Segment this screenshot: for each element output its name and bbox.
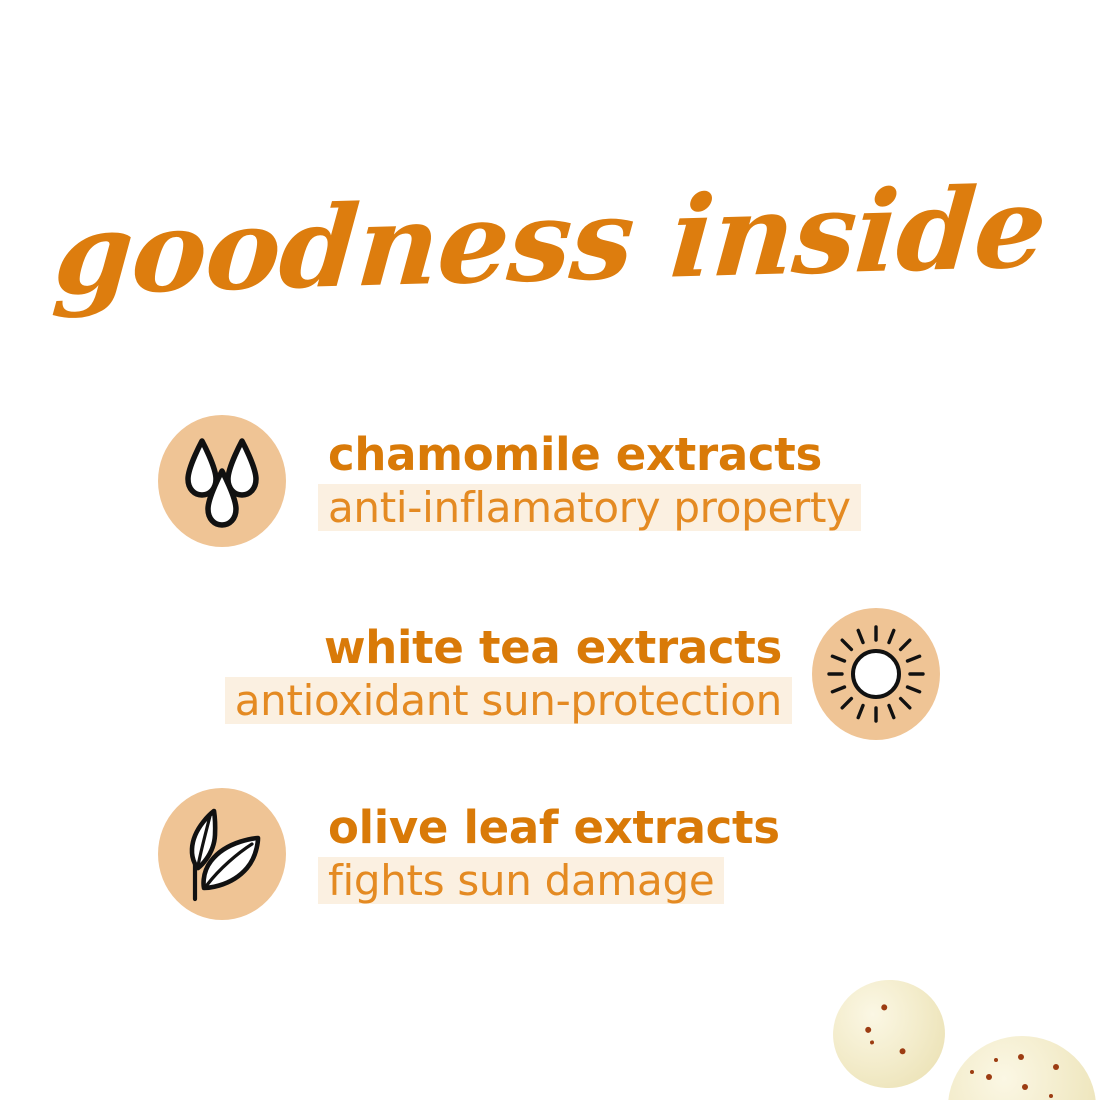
feature-text-olive-leaf: olive leaf extracts fights sun damage [328,804,780,904]
droplet-speck [870,1040,875,1045]
droplet-speck [1022,1084,1028,1090]
page-title: goodness inside [50,172,1049,312]
droplet-speck [881,1004,888,1011]
feature-title-olive-leaf: olive leaf extracts [328,804,780,852]
droplet-speck [1053,1064,1059,1070]
olive-leaves-icon [173,802,271,906]
sun-icon [824,622,928,726]
feature-subtitle-chamomile: anti-inflamatory property [328,484,851,531]
feature-title-white-tea: white tea extracts [324,624,782,672]
feature-row-white-tea: white tea extracts antioxidant sun-prote… [235,608,940,740]
droplet-speck [994,1058,998,1062]
droplet-speck [1049,1094,1053,1098]
droplet-speck [1018,1054,1024,1060]
feature-row-olive-leaf: olive leaf extracts fights sun damage [158,788,780,920]
feature-subtitle-white-tea: antioxidant sun-protection [235,677,782,724]
feature-subtitle-olive-leaf: fights sun damage [328,857,714,904]
page-title-container: goodness inside [0,186,1100,298]
droplet-speck [986,1074,992,1080]
olive-leaves-icon-badge [158,788,286,920]
droplet-speck [970,1070,974,1074]
water-droplets-icon [176,431,268,531]
water-droplets-icon-badge [158,415,286,547]
feature-text-chamomile: chamomile extracts anti-inflamatory prop… [328,431,851,531]
sun-icon-badge [812,608,940,740]
feature-title-chamomile: chamomile extracts [328,431,822,479]
serum-droplet-small [826,973,952,1096]
droplet-speck [899,1048,906,1055]
feature-row-chamomile: chamomile extracts anti-inflamatory prop… [158,415,851,547]
feature-text-white-tea: white tea extracts antioxidant sun-prote… [235,624,782,724]
serum-droplet-large [948,1036,1096,1100]
ingredients-infographic: goodness inside chamomile extracts anti-… [0,0,1100,1100]
droplet-speck [865,1026,872,1033]
